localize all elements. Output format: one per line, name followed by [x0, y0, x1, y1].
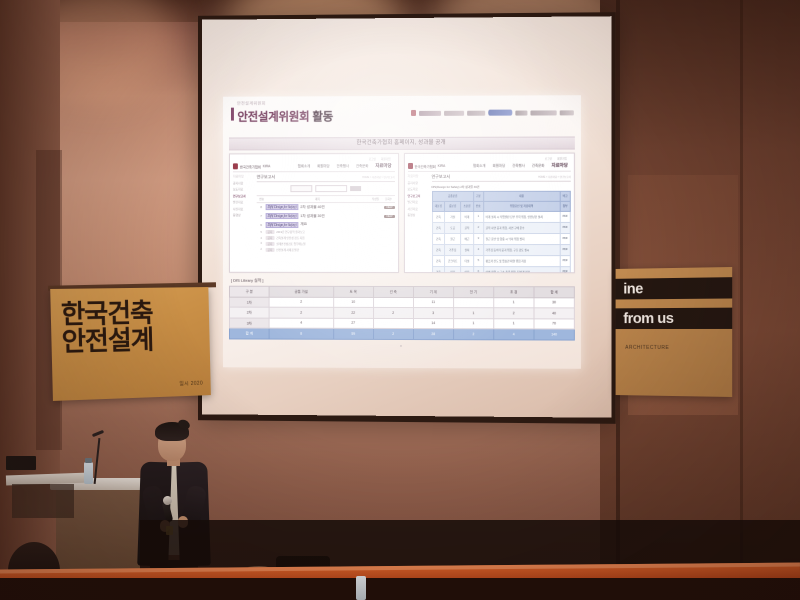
- cell-attach: PDF: [560, 255, 570, 266]
- cell-no: 2: [473, 222, 483, 233]
- website-screenshot-right: 로그인 회원가입 한국건축가협회 KIRA 협회소개 회원마당 건축행사 건축문…: [403, 153, 574, 274]
- cell-minor: 굴착: [461, 222, 474, 233]
- menu-item: 건축문화: [532, 163, 545, 169]
- row-label: 합 계: [229, 328, 269, 339]
- table-row: 건축 철근 배근 3 철근 운반 및 양중 시 낙하 위험 방지 PDF: [432, 233, 570, 244]
- cell-no: 3: [473, 233, 483, 244]
- list-item: 2 공지 안전설계 사례집 발간: [257, 247, 395, 253]
- cell: 1: [453, 308, 493, 319]
- sponsor-logo-row: [411, 109, 574, 116]
- side-nav-item: 보도자료: [233, 188, 255, 192]
- th-attach: 첨부: [560, 201, 570, 211]
- cell: 40: [534, 308, 575, 319]
- post-text: 설계안전성검토 업무매뉴얼: [276, 242, 305, 246]
- site-menu: 협회소개 회원마당 건축행사 건축문화 자료마당: [473, 163, 571, 169]
- site-logo: 한국건축가협회 KIRA: [233, 163, 270, 169]
- cell-major: 건축: [432, 244, 445, 255]
- content-title: 연구보고서: [257, 174, 275, 180]
- notice-chip: 공지: [266, 236, 275, 240]
- conference-hall-photo: 안전설계위원회 안전설계위원회 활동 한국건축가협회 홈페이지, 성과물 공개: [0, 0, 800, 600]
- cell: 2: [269, 297, 333, 308]
- cell-desc: 비계 설치 시 작업발판 단부 추락 위험, 안전난간 설치: [483, 211, 560, 222]
- breadcrumb: HOME > 자료마당 > 연구보고서: [538, 175, 571, 179]
- side-nav-item: 공지사항: [233, 181, 255, 185]
- poster-line-2: from us: [616, 308, 733, 329]
- th-common: 공통 가설: [269, 286, 333, 297]
- post-rest: 1차 성과물 30건: [300, 214, 324, 219]
- cell: 2: [373, 328, 413, 339]
- menu-item: 회원마당: [493, 163, 506, 169]
- th-group-content: 내용: [483, 191, 560, 201]
- table-row: 1차 2 10 11 1 30: [229, 297, 574, 308]
- th-elec: 전 기: [453, 286, 493, 297]
- row-label: 1차: [229, 297, 269, 308]
- side-nav-item: 동영상: [233, 213, 255, 217]
- list-header: 번호 제목 작성일 조회수: [257, 195, 395, 203]
- site-name: 한국건축가협회: [415, 163, 436, 168]
- panel-content: 연구보고서 HOME > 자료마당 > 연구보고서 DfS(Design for…: [432, 174, 571, 274]
- poster-line-1: ine: [616, 277, 733, 299]
- cell: 1: [494, 297, 534, 308]
- cell: [373, 318, 413, 329]
- cell-no: 5: [473, 255, 483, 266]
- cell-attach: PDF: [560, 244, 570, 255]
- site-name: 한국건축가협회: [240, 164, 261, 169]
- content-header: 연구보고서 HOME > 자료마당 > 연구보고서: [432, 174, 571, 182]
- table-header-row: 공종분류 구분 내용 비고: [432, 191, 570, 201]
- cell: 59: [333, 328, 373, 339]
- cell-mid: 마감: [445, 266, 461, 273]
- login-link: 로그인: [369, 157, 376, 161]
- cell-attach: PDF: [560, 222, 570, 233]
- cell-desc: 철근 운반 및 양중 시 낙하 위험 방지: [483, 233, 560, 244]
- menu-item: 건축행사: [512, 163, 525, 169]
- screenshot-panels: 로그인 회원가입 한국건축가협회 KIRA 협회소개 회원마당 건축행사 건축문…: [229, 153, 575, 274]
- th-mech: 기 계: [413, 286, 453, 297]
- side-nav-title: 자료마당: [233, 174, 255, 178]
- cell-major: 건축: [432, 222, 445, 233]
- signup-link: 회원가입: [557, 157, 567, 161]
- water-bottle-cap: [85, 458, 92, 463]
- menu-item-current: 자료마당: [551, 163, 567, 169]
- banner-line-2: 안전설계: [61, 326, 209, 357]
- cell: 2: [373, 307, 413, 318]
- slide-subtitle: 한국건축가협회 홈페이지, 성과물 공개: [229, 136, 575, 150]
- menu-item: 협회소개: [473, 163, 486, 169]
- slide-page-number: 8: [223, 343, 581, 348]
- list-item: 8 DfS( Design for Safety) 2차 성과물 40건 NEW: [257, 203, 395, 212]
- content-title: 연구보고서: [432, 174, 450, 180]
- side-navigation: 자료마당 공지사항 보도자료 연구보고서 발간자료 사진자료 동영상: [233, 174, 257, 252]
- browser-top-links: 로그인 회원가입: [233, 156, 395, 161]
- side-nav-item: 발간자료: [233, 200, 255, 204]
- site-subname: KIRA: [438, 164, 446, 168]
- panel-body: 자료마당 공지사항 보도자료 연구보고서 발간자료 사진자료 동영상 연구보고서…: [233, 174, 395, 252]
- cell-major: 건축: [432, 233, 445, 244]
- menu-item: 건축문화: [356, 163, 368, 169]
- kira-logo-icon: [407, 163, 412, 169]
- search-input: [315, 185, 347, 192]
- table-row: 건축 가설 비계 1 비계 설치 시 작업발판 단부 추락 위험, 안전난간 설…: [432, 211, 570, 222]
- panel-body: 자료마당 공지사항 보도자료 연구보고서 발간자료 사진자료 동영상 연구보고서…: [407, 174, 570, 274]
- new-badge: NEW: [384, 215, 394, 218]
- presentation-slide: 안전설계위원회 안전설계위원회 활동 한국건축가협회 홈페이지, 성과물 공개: [223, 95, 581, 369]
- search-select: [290, 185, 312, 192]
- list-item: 6 DfS( Design for Safety) 개요: [257, 221, 395, 230]
- th-group-classification: 공종분류: [432, 191, 473, 201]
- cell: 140: [534, 329, 575, 340]
- cell: 8: [269, 328, 333, 339]
- table-header-row: 구 분 공통 가설 토 목 건 축 기 계 전 기 조 경 합 계: [229, 286, 574, 298]
- cell-minor: 타설: [461, 255, 474, 266]
- col-num: 번호: [257, 197, 267, 201]
- sponsor-logo-icon: [419, 110, 441, 115]
- cell-desc: 펌프카 전도 및 압송관 파열 위험 저감: [483, 255, 560, 266]
- site-menu: 협회소개 회원마당 건축행사 건축문화 자료마당: [298, 163, 395, 169]
- th-arch: 건 축: [373, 286, 413, 297]
- slide-header: 안전설계위원회 안전설계위원회 활동: [223, 95, 581, 136]
- cell: 70: [534, 318, 575, 329]
- side-nav-item: 사진자료: [407, 207, 429, 211]
- th-group-note: 비고: [560, 191, 570, 201]
- wall-seam: [740, 0, 743, 600]
- post-text: 건축설계 안전성 검토 지침: [276, 236, 304, 240]
- sponsor-logo-icon: [530, 110, 556, 115]
- cell-minor: 비계: [461, 211, 474, 222]
- cell: 30: [534, 297, 575, 308]
- side-table-leg: [12, 484, 74, 518]
- notice-chip: 공지: [266, 242, 275, 246]
- th-mid: 중분류: [445, 201, 461, 211]
- search-row: [257, 185, 395, 192]
- menu-item: 건축행사: [337, 163, 349, 169]
- list-item: 7 DfS( Design for Safety) 1차 성과물 30건 NEW: [257, 212, 395, 221]
- sponsor-logo-icon: [560, 110, 574, 115]
- slide-title-accent: 활동: [312, 111, 333, 123]
- post-number: 7: [257, 214, 266, 218]
- side-navigation: 자료마당 공지사항 보도자료 연구보고서 발간자료 사진자료 동영상: [407, 174, 431, 273]
- cell: 1: [453, 318, 493, 329]
- cell-minor: 설치: [461, 244, 474, 255]
- signup-link: 회원가입: [381, 157, 391, 161]
- th-land: 조 경: [494, 286, 534, 297]
- content-header: 연구보고서 HOME > 자료마당 > 연구보고서: [257, 174, 395, 182]
- th-risk: 위험요인 및 저감대책: [483, 201, 560, 211]
- notice-chip: 공지: [266, 248, 275, 252]
- side-nav-item-current: 연구보고서: [233, 194, 255, 198]
- side-nav-item: 발간자료: [407, 200, 429, 204]
- cell-major: 건축: [432, 211, 445, 222]
- website-screenshot-left: 로그인 회원가입 한국건축가협회 KIRA 협회소개 회원마당 건축행사 건축문…: [229, 153, 399, 273]
- th-civil: 토 목: [333, 286, 373, 297]
- table-row: 건축 토공 굴착 2 굴착 사면 붕괴 위험, 사면 구배 준수 PDF: [432, 222, 570, 233]
- row-label: 3차: [229, 318, 269, 329]
- foreground-floor: [0, 578, 800, 600]
- notice-chip: 공지: [266, 230, 275, 234]
- cell: 2: [269, 307, 333, 318]
- post-number: 2: [257, 248, 266, 251]
- cell: 2: [494, 308, 534, 319]
- cell: 1: [494, 318, 534, 329]
- table-row: 건축 콘크리트 타설 5 펌프카 전도 및 압송관 파열 위험 저감 PDF: [432, 255, 570, 266]
- cell: 3: [413, 308, 453, 319]
- cell-mid: 콘크리트: [445, 255, 461, 266]
- cell-minor: 배근: [461, 233, 474, 244]
- th-group-division: 구분: [473, 191, 483, 201]
- cell-no: 6: [473, 266, 483, 273]
- wall-poster-right: ine from us ARCHITECTURE: [616, 267, 733, 397]
- th-division: 구 분: [229, 286, 269, 297]
- cell-major: 건축: [432, 255, 445, 266]
- row-label: 2차: [229, 307, 269, 318]
- table-row: 건축 마감 외장 6 외벽 작업 시 고소 추락 위험, 달비계 점검 PDF: [432, 266, 570, 273]
- post-rest: 개요: [300, 222, 307, 227]
- side-nav-item: 동영상: [407, 213, 429, 217]
- search-button: [350, 186, 361, 191]
- th-total: 합 계: [534, 286, 575, 297]
- table-row: 건축 거푸집 설치 4 거푸집 동바리 붕괴 위험, 구조 검토 실시 PDF: [432, 244, 570, 255]
- menu-item-current: 자료마당: [375, 163, 391, 169]
- cell: 4: [269, 318, 333, 329]
- cell: 10: [333, 297, 373, 308]
- th-no: 번호: [473, 201, 483, 211]
- banner-date: 일시 2020: [179, 380, 203, 388]
- cell: 11: [413, 297, 453, 308]
- site-subname: KIRA: [263, 164, 270, 168]
- menu-item: 협회소개: [298, 163, 310, 169]
- cell-desc: 외벽 작업 시 고소 추락 위험, 달비계 점검: [483, 266, 560, 273]
- cell-attach: PDF: [560, 211, 570, 222]
- cell-major: 건축: [432, 266, 445, 273]
- cell: 14: [413, 318, 453, 329]
- wall-banner-left: 한국건축 안전설계 일시 2020: [50, 287, 211, 401]
- slide-title: 안전설계위원회 활동: [237, 108, 333, 124]
- site-navigation: 한국건축가협회 KIRA 협회소개 회원마당 건축행사 건축문화 자료마당: [407, 163, 570, 172]
- water-bottle: [356, 576, 366, 600]
- panel-content: 연구보고서 HOME > 자료마당 > 연구보고서 번호 제목 작성일: [257, 174, 395, 252]
- confidence-monitor: [6, 456, 36, 470]
- site-logo: 한국건축가협회 KIRA: [407, 163, 445, 169]
- cell-minor: 외장: [461, 266, 474, 273]
- cell-desc: 굴착 사면 붕괴 위험, 사면 구배 준수: [483, 222, 560, 233]
- cell-no: 4: [473, 244, 483, 255]
- th-major: 대분류: [432, 201, 445, 211]
- cell-desc: 거푸집 동바리 붕괴 위험, 구조 검토 실시: [483, 244, 560, 255]
- cell-mid: 토공: [445, 222, 461, 233]
- dfs-results-table: 공종분류 구분 내용 비고 대분류 중분류 소분류 번호 위험요인 및 저감대책: [432, 190, 571, 273]
- breadcrumb: HOME > 자료마당 > 연구보고서: [362, 175, 394, 179]
- browser-top-links: 로그인 회원가입: [407, 156, 570, 161]
- cell: 2: [453, 329, 493, 340]
- cell: [373, 297, 413, 308]
- post-number: 6: [257, 223, 266, 227]
- dfs-library-table: 구 분 공통 가설 토 목 건 축 기 계 전 기 조 경 합 계 1차 2 1…: [229, 285, 575, 340]
- cell-attach: PDF: [560, 233, 570, 244]
- title-accent-bar: [231, 108, 233, 121]
- cell-no: 1: [473, 211, 483, 222]
- post-number: 5: [257, 231, 266, 234]
- bottom-table-caption: [ DfS Library 실적 ]: [231, 278, 581, 285]
- post-number: 3: [257, 242, 266, 245]
- cell: 4: [494, 329, 534, 340]
- cell: 27: [333, 318, 373, 329]
- menu-item: 회원마당: [317, 163, 329, 169]
- cell-mid: 철근: [445, 233, 461, 244]
- login-link: 로그인: [545, 157, 552, 161]
- post-text: 안전설계 사례집 발간: [276, 248, 299, 252]
- cell-mid: 거푸집: [445, 244, 461, 255]
- cell: [453, 297, 493, 308]
- post-link: DfS( Design for Safety): [266, 213, 299, 219]
- samsung-logo-icon: [488, 110, 512, 116]
- cell-attach: PDF: [560, 266, 570, 273]
- th-minor: 소분류: [461, 201, 474, 211]
- side-nav-item-current: 연구보고서: [407, 194, 429, 198]
- col-views: 조회수: [383, 197, 395, 201]
- water-bottle: [84, 462, 93, 484]
- col-date: 작성일: [369, 197, 383, 201]
- sponsor-logo-icon: [444, 110, 464, 115]
- post-link: DfS( Design for Safety): [266, 204, 299, 210]
- post-link: DfS( Design for Safety): [266, 222, 299, 228]
- kira-logo-icon: [411, 110, 416, 116]
- post-number: 4: [257, 236, 266, 239]
- sponsor-logo-icon: [467, 110, 485, 115]
- table-subheader-row: 대분류 중분류 소분류 번호 위험요인 및 저감대책 첨부: [432, 201, 570, 211]
- side-nav-item: 보도자료: [407, 187, 429, 191]
- kira-logo-icon: [233, 163, 238, 169]
- site-navigation: 한국건축가협회 KIRA 협회소개 회원마당 건축행사 건축문화 자료마당: [233, 163, 395, 172]
- side-nav-item: 사진자료: [233, 207, 255, 211]
- side-nav-title: 자료마당: [407, 174, 429, 178]
- post-number: 8: [257, 206, 266, 210]
- table-caption: DfS(Design for Safety) 2차 성과물 40건: [432, 185, 571, 189]
- cell-mid: 가설: [445, 211, 461, 222]
- side-nav-item: 공지사항: [407, 181, 429, 185]
- cell: 22: [333, 307, 373, 318]
- sponsor-logo-icon: [515, 110, 527, 115]
- post-text: 2019년 연구용역 결과보고: [276, 230, 304, 234]
- new-badge: NEW: [384, 206, 394, 209]
- cell: 28: [413, 329, 453, 340]
- poster-subtext: ARCHITECTURE: [625, 345, 732, 351]
- col-title: 제목: [267, 197, 369, 201]
- slide-title-main: 안전설계위원회: [237, 111, 309, 123]
- table-total-row: 합 계 8 59 2 28 2 4 140: [229, 328, 574, 340]
- post-rest: 2차 성과물 40건: [300, 205, 324, 210]
